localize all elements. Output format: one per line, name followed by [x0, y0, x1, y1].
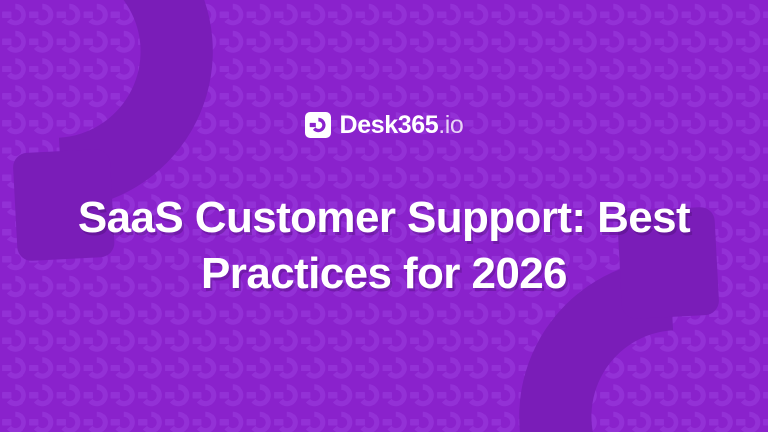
desk365-wordmark: Desk365.io: [340, 113, 464, 138]
headline-line-1: SaaS Customer Support: Best: [78, 193, 690, 242]
banner-headline: SaaS Customer Support: Best Practices fo…: [54, 190, 714, 303]
logo-word-main: Desk365: [340, 113, 439, 138]
banner-content: Desk365.io SaaS Customer Support: Best P…: [0, 0, 768, 432]
logo-word-tld: .io: [438, 113, 463, 138]
desk365-logo[interactable]: Desk365.io: [305, 108, 464, 142]
headline-line-2: Practices for 2026: [201, 249, 567, 298]
desk365-blog-banner: Desk365.io SaaS Customer Support: Best P…: [0, 0, 768, 432]
desk365-d-arrow-icon: [305, 112, 331, 138]
